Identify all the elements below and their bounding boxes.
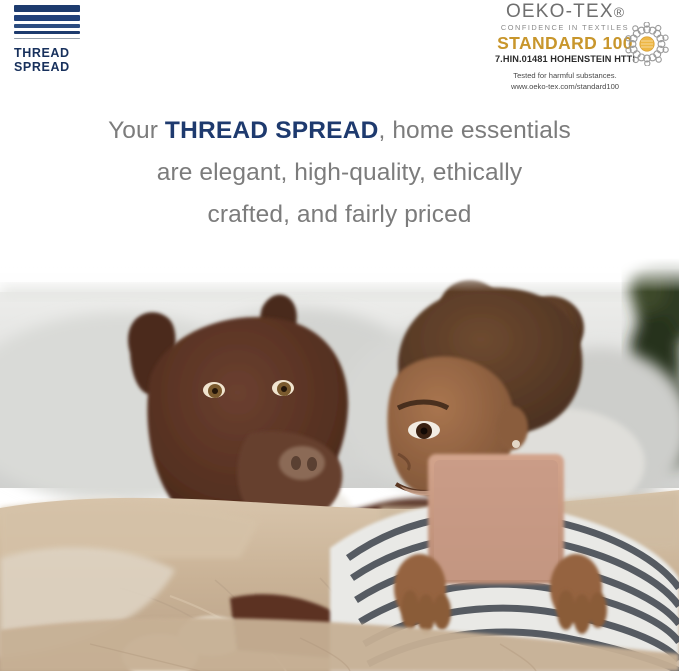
header-bar: THREAD SPREAD OEKO-TEX® CONFIDENCE IN TE… <box>0 0 679 92</box>
oeko-tex-sunburst-icon <box>625 22 669 66</box>
headline-prefix: Your <box>108 117 165 144</box>
logo-bar-4 <box>14 31 80 34</box>
logo-bar-2 <box>14 15 80 21</box>
brand-name-line2: SPREAD <box>14 61 94 75</box>
headline-line-1: Your THREAD SPREAD, home essentials <box>0 110 679 152</box>
logo-bar-5 <box>14 38 80 40</box>
oeko-tex-title-text: OEKO-TEX <box>506 1 614 22</box>
registered-trademark-icon: ® <box>614 4 624 20</box>
fine-print-line-2: www.oeko-tex.com/standard100 <box>465 81 665 92</box>
oeko-tex-certification: OEKO-TEX® CONFIDENCE IN TEXTILES STANDAR… <box>465 2 665 92</box>
marketing-headline: Your THREAD SPREAD, home essentials are … <box>0 110 679 236</box>
brand-name-line1: THREAD <box>14 47 94 61</box>
logo-bar-1 <box>14 5 80 12</box>
brand-logo: THREAD SPREAD <box>14 5 94 74</box>
oeko-tex-fine-print: Tested for harmful substances. www.oeko-… <box>465 70 665 92</box>
stacked-bars-logo-icon <box>14 5 80 39</box>
product-image-page: THREAD SPREAD OEKO-TEX® CONFIDENCE IN TE… <box>0 0 679 671</box>
lifestyle-photo <box>0 258 679 671</box>
logo-bar-3 <box>14 24 80 28</box>
headline-brand-highlight: THREAD SPREAD <box>165 117 379 144</box>
brand-wordmark: THREAD SPREAD <box>14 47 94 74</box>
headline-line-3: crafted, and fairly priced <box>0 194 679 236</box>
fine-print-line-1: Tested for harmful substances. <box>465 70 665 81</box>
oeko-tex-title: OEKO-TEX® <box>465 2 665 22</box>
oeko-title-row: OEKO-TEX® <box>465 2 665 22</box>
headline-line-2: are elegant, high-quality, ethically <box>0 152 679 194</box>
headline-suffix: , home essentials <box>379 117 571 144</box>
